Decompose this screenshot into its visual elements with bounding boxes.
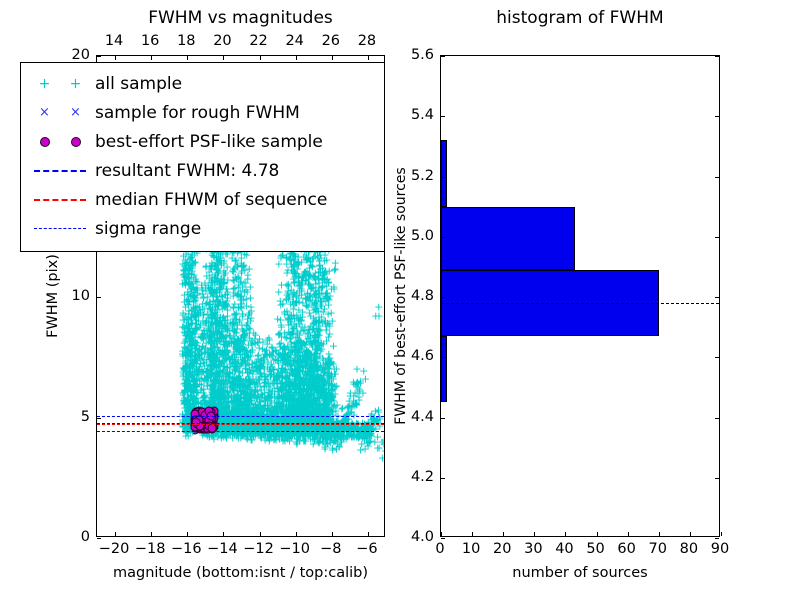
left-plot-title: FWHM vs magnitudes [96, 8, 385, 28]
left-top-x-tick-label: 28 [358, 33, 376, 49]
left-x-tick-label: −8 [320, 541, 341, 557]
left-top-x-tick-label: 16 [141, 33, 159, 49]
scatter-point-all-sample: + [296, 311, 305, 322]
scatter-point-all-sample: + [361, 374, 370, 385]
left-x-tick-label: −6 [356, 541, 377, 557]
left-y-tick-label: 20 [46, 47, 90, 63]
left-x-tick-label: −12 [243, 541, 274, 557]
figure-canvas: FWHM vs magnitudes 1416182022242628 −20−… [0, 0, 800, 600]
left-x-tick-label: −16 [171, 541, 202, 557]
scatter-point-all-sample: + [352, 432, 361, 443]
left-x-tick-label: −20 [99, 541, 130, 557]
scatter-point-all-sample: + [374, 310, 383, 321]
scatter-point-all-sample: + [352, 378, 361, 389]
left-top-x-tick-label: 20 [213, 33, 231, 49]
scatter-point-all-sample: + [329, 341, 338, 352]
scatter-point-all-sample: + [373, 443, 382, 454]
scatter-point-all-sample: + [265, 364, 274, 375]
left-x-tick-label: −18 [135, 541, 166, 557]
left-top-x-tick-label: 22 [249, 33, 267, 49]
left-top-x-tick-label: 14 [105, 33, 123, 49]
left-y-tick-label: 5 [46, 409, 90, 425]
left-x-tick-label: −14 [207, 541, 238, 557]
left-y-tick-label: 0 [46, 529, 90, 545]
left-top-x-tick-label: 24 [285, 33, 303, 49]
left-top-x-tick-label: 18 [177, 33, 195, 49]
left-x-tick-label: −10 [279, 541, 310, 557]
scatter-point-all-sample: + [261, 349, 270, 360]
left-top-x-tick-label: 26 [322, 33, 340, 49]
